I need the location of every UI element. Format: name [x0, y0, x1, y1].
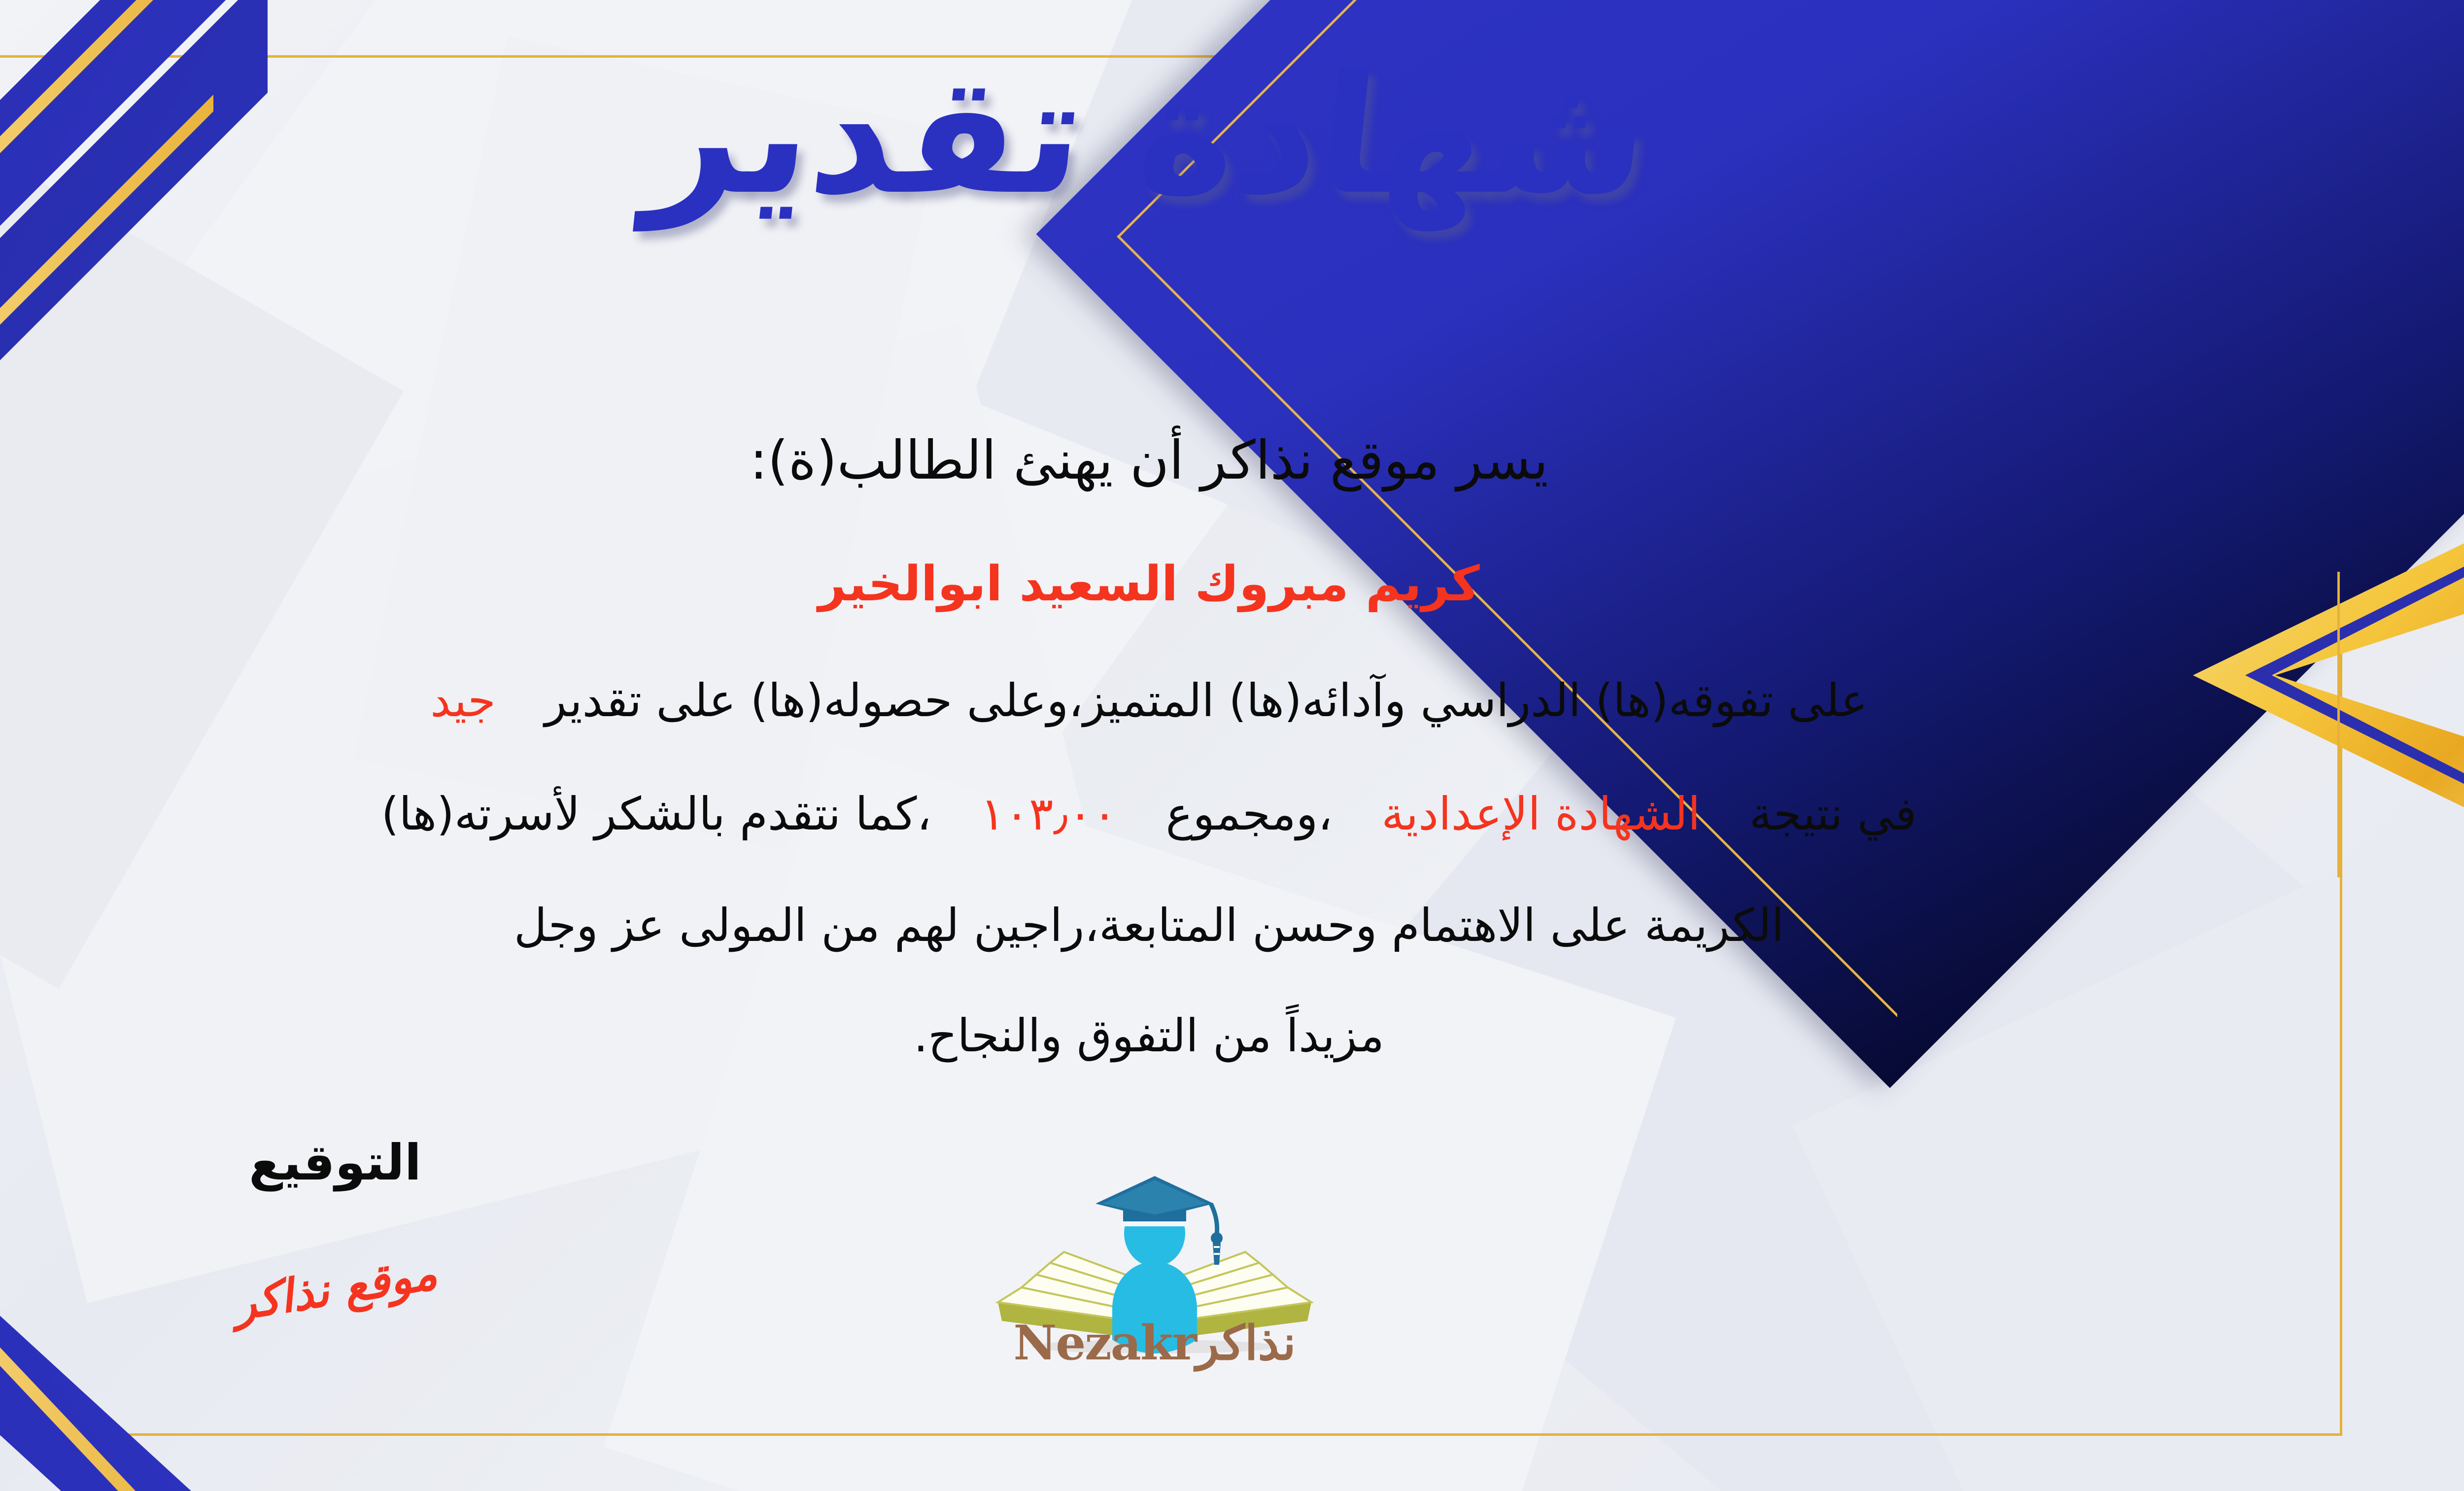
total-score: ١٠٣٫٠٠ [980, 788, 1117, 840]
total-label: ،ومجموع [1166, 788, 1333, 840]
student-name: كريم مبروك السعيد ابوالخير [0, 556, 2464, 612]
site-logo: نذاكرNezakr [967, 1134, 1342, 1410]
achievement-text: على تفوقه(ها) الدراسي وآدائه(ها) المتميز… [545, 674, 1868, 727]
achievement-line: على تفوقه(ها) الدراسي وآدائه(ها) المتميز… [0, 674, 2405, 727]
closing-line: مزيداً من التفوق والنجاح. [0, 1009, 2405, 1062]
signature-mark: موقع نذاكر [205, 1242, 466, 1335]
certificate-content: شهادة تقدير يسر موقع نذاكر أن يهنئ الطال… [0, 0, 2464, 1491]
result-prefix: في نتيجة [1749, 788, 1917, 840]
logo-wordmark: نذاكرNezakr [967, 1315, 1342, 1371]
certificate-canvas: شهادة تقدير يسر موقع نذاكر أن يهنئ الطال… [0, 0, 2464, 1491]
result-line: في نتيجة الشهادة الإعدادية ،ومجموع ١٠٣٫٠… [0, 788, 2405, 840]
grade-value: جيد [430, 674, 496, 727]
thanks-prefix: ،كما نتقدم بالشكر لأسرته(ها) [381, 788, 932, 840]
greeting-line: يسر موقع نذاكر أن يهنئ الطالب(ة): [0, 430, 2464, 491]
thanks-line: الكريمة على الاهتمام وحسن المتابعة،راجين… [0, 899, 2405, 952]
certificate-stage: الشهادة الإعدادية [1381, 788, 1700, 840]
certificate-title: شهادة تقدير [0, 54, 2464, 217]
signature-label: التوقيع [187, 1134, 483, 1191]
logo-name-latin: Nezakr [1013, 1315, 1196, 1371]
logo-name-arabic: نذاكر [1196, 1315, 1296, 1371]
